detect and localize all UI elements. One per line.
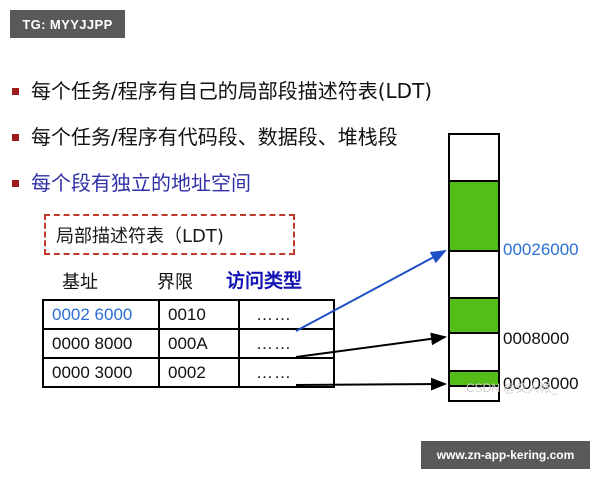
memory-block-segment-8000 (450, 299, 498, 334)
cell-base: 0000 8000 (43, 329, 159, 358)
address-label-26000: 00026000 (503, 240, 579, 260)
bottom-url-badge: www.zn-app-kering.com (421, 441, 590, 469)
bullet-item-1: 每个任务/程序有代码段、数据段、堆栈段 (12, 124, 398, 150)
table-row: 0000 8000 000A …… (43, 329, 334, 358)
table-row: 0002 6000 0010 …… (43, 300, 334, 329)
address-label-8000: 0008000 (503, 329, 569, 349)
memory-column (448, 133, 500, 402)
cell-limit: 0010 (159, 300, 239, 329)
bullet-text-0: 每个任务/程序有自己的局部段描述符表(LDT) (31, 78, 432, 104)
cell-limit: 000A (159, 329, 239, 358)
cell-access: …… (239, 329, 334, 358)
column-header-limit: 界限 (157, 268, 193, 294)
ldt-table: 0002 6000 0010 …… 0000 8000 000A …… 0000… (42, 299, 335, 388)
cell-access: …… (239, 300, 334, 329)
csdn-watermark: CSDN @爻人帐_ (466, 379, 558, 396)
ldt-caption-label: 局部描述符表（LDT) (56, 222, 224, 248)
cell-base: 0000 3000 (43, 358, 159, 387)
column-header-base: 基址 (62, 268, 98, 294)
memory-block-segment-26000 (450, 182, 498, 252)
cell-limit: 0002 (159, 358, 239, 387)
memory-block-free-lower (450, 334, 498, 372)
bullet-square-icon (12, 88, 19, 95)
bullet-item-0: 每个任务/程序有自己的局部段描述符表(LDT) (12, 78, 432, 104)
bullet-text-2: 每个段有独立的地址空间 (31, 170, 251, 196)
cell-access: …… (239, 358, 334, 387)
memory-block-free-top (450, 135, 498, 182)
ldt-caption-box: 局部描述符表（LDT) (44, 214, 295, 255)
bullet-text-1: 每个任务/程序有代码段、数据段、堆栈段 (31, 124, 398, 150)
column-header-access-type: 访问类型 (226, 266, 302, 293)
bullet-square-icon (12, 180, 19, 187)
bullet-square-icon (12, 134, 19, 141)
cell-base: 0002 6000 (43, 300, 159, 329)
slide-canvas: TG: MYYJJPP 每个任务/程序有自己的局部段描述符表(LDT) 每个任务… (0, 0, 600, 480)
bullet-item-2: 每个段有独立的地址空间 (12, 170, 251, 196)
top-tag-badge: TG: MYYJJPP (10, 10, 125, 38)
table-row: 0000 3000 0002 …… (43, 358, 334, 387)
memory-block-free-mid (450, 252, 498, 299)
